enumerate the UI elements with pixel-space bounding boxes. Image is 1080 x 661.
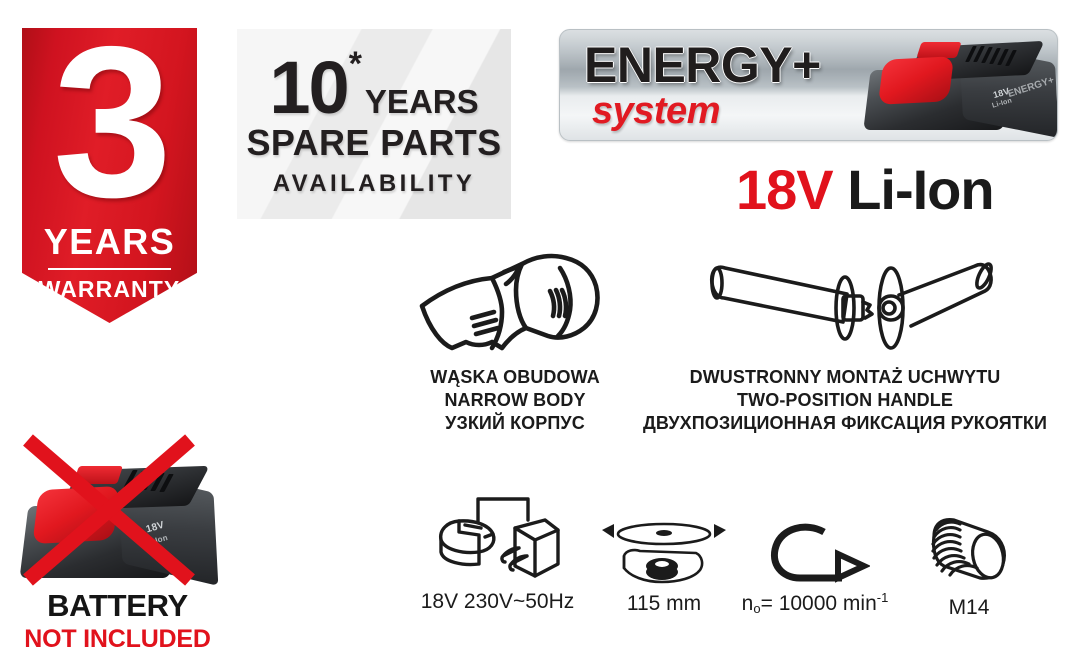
- spec-disc-diameter: 115 mm: [598, 520, 730, 630]
- battery-chemistry: Li-Ion: [847, 158, 993, 221]
- energy-plus-system-badge: ENERGY+ system 18V Li-Ion ENERGY+: [559, 29, 1058, 141]
- spec-rpm-label: no= 10000 min-1: [730, 592, 900, 618]
- spec-charger-label: 18V 230V~50Hz: [395, 590, 600, 614]
- rpm-exponent: -1: [877, 590, 889, 605]
- voltage-value: 18V: [736, 158, 833, 221]
- spare-parts-badge: 10 * YEARS SPARE PARTS AVAILABILITY: [237, 29, 511, 219]
- spec-spindle-thread: M14: [900, 512, 1038, 630]
- warranty-years-label: YEARS: [22, 224, 197, 260]
- voltage-chemistry-line: 18V Li-Ion: [736, 162, 994, 218]
- battery-red-tab: [916, 42, 961, 58]
- angle-grinder-body-outline-icon: [380, 248, 650, 356]
- two-position-handle-outline-icon: [620, 248, 1070, 356]
- battery-release-button: [32, 486, 119, 544]
- feature-label-ru: ДВУХПОЗИЦИОННАЯ ФИКСАЦИЯ РУКОЯТКИ: [620, 412, 1070, 435]
- spec-charger: 18V 230V~50Hz: [395, 494, 600, 629]
- feature-label-ru: УЗКИЙ КОРПУС: [380, 412, 650, 435]
- rpm-value: = 10000 min: [761, 592, 877, 615]
- spare-parts-headline-row: 10 * YEARS: [237, 51, 511, 121]
- feature-label-pl: WĄSKA OBUDOWA: [380, 366, 650, 389]
- spare-parts-asterisk: *: [349, 47, 362, 81]
- spec-no-load-speed: no= 10000 min-1: [730, 520, 900, 630]
- energy-plus-subtitle: system: [592, 92, 720, 130]
- battery-pack-icon: 18V Li-Ion ENERGY+: [857, 32, 1057, 141]
- battery-pack-crossed-out-icon: 18V Li-Ion: [10, 432, 225, 594]
- warranty-divider: [48, 268, 171, 270]
- spare-parts-badge-inner: 10 * YEARS SPARE PARTS AVAILABILITY: [237, 29, 511, 219]
- threaded-spindle-icon: [900, 512, 1038, 590]
- energy-plus-title: ENERGY+: [584, 40, 821, 90]
- warranty-badge: 3 YEARS WARRANTY: [22, 28, 197, 323]
- spare-parts-years-label: YEARS: [365, 85, 479, 118]
- feature-handle-labels: DWUSTRONNY MONTAŻ UCHWYTU TWO-POSITION H…: [620, 366, 1070, 435]
- spare-parts-number: 10: [269, 55, 347, 121]
- rpm-subscript: o: [753, 601, 760, 616]
- spare-parts-line2: SPARE PARTS: [237, 125, 511, 161]
- warranty-label: WARRANTY: [22, 278, 197, 301]
- feature-label-en: TWO-POSITION HANDLE: [620, 389, 1070, 412]
- battery-not-included-title: BATTERY: [10, 590, 225, 621]
- feature-narrow-body: WĄSKA OBUDOWA NARROW BODY УЗКИЙ КОРПУС: [380, 248, 650, 443]
- feature-label-en: NARROW BODY: [380, 389, 650, 412]
- warranty-years-number: 3: [22, 14, 197, 229]
- infographic-canvas: 3 YEARS WARRANTY 10 * YEARS SPARE PARTS …: [0, 0, 1080, 661]
- spec-thread-label: M14: [900, 596, 1038, 620]
- spare-parts-line3: AVAILABILITY: [237, 172, 511, 196]
- feature-label-pl: DWUSTRONNY MONTAŻ UCHWYTU: [620, 366, 1070, 389]
- feature-narrow-body-labels: WĄSKA OBUDOWA NARROW BODY УЗКИЙ КОРПУС: [380, 366, 650, 435]
- rotation-arrow-icon: [730, 520, 900, 588]
- battery-pack-illustration: 18V Li-Ion: [18, 456, 218, 588]
- battery-release-button: [878, 56, 954, 105]
- battery-not-included-subtitle: NOT INCLUDED: [10, 627, 225, 652]
- spec-disc-label: 115 mm: [598, 592, 730, 616]
- battery-not-included-block: 18V Li-Ion BATTERY NOT INCLUDED: [10, 432, 225, 654]
- battery-red-tab: [73, 466, 123, 484]
- rpm-symbol: n: [742, 592, 754, 615]
- grinding-disc-icon: [598, 520, 730, 588]
- charger-plug-icon: [395, 494, 600, 586]
- feature-two-position-handle: DWUSTRONNY MONTAŻ UCHWYTU TWO-POSITION H…: [620, 248, 1070, 443]
